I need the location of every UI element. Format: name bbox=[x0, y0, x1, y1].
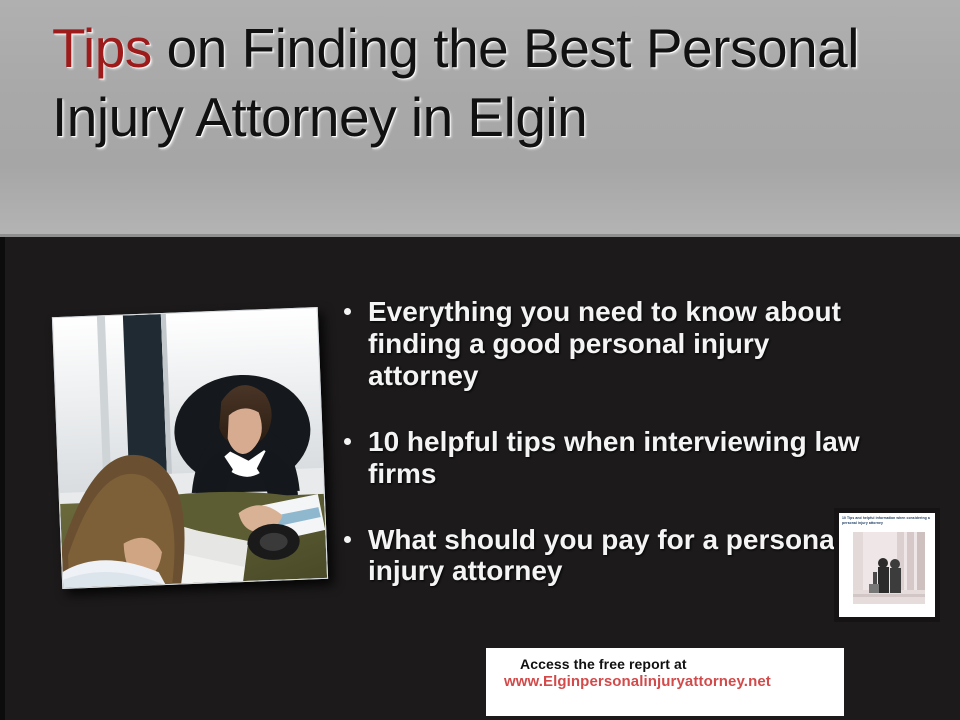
slide-header: Tips on Finding the Best Personal Injury… bbox=[0, 0, 960, 237]
thumbnail-photo bbox=[853, 532, 925, 604]
attorney-consultation-photo bbox=[52, 307, 328, 589]
bullet-dot-icon bbox=[344, 308, 351, 315]
courthouse-columns-illustration bbox=[853, 532, 925, 604]
list-item: 10 helpful tips when interviewing law fi… bbox=[340, 426, 870, 490]
presentation-slide: Tips on Finding the Best Personal Injury… bbox=[0, 0, 960, 720]
bullet-text: 10 helpful tips when interviewing law fi… bbox=[368, 426, 860, 489]
list-item: What should you pay for a personal injur… bbox=[340, 524, 870, 588]
cta-url-box[interactable]: Access the free report at www.Elginperso… bbox=[486, 648, 844, 716]
bullet-text: Everything you need to know about findin… bbox=[368, 296, 841, 391]
left-edge-strip bbox=[0, 237, 5, 720]
report-cover-thumbnail[interactable]: 10 Tips and helpful information when con… bbox=[834, 508, 940, 622]
thumbnail-card: 10 Tips and helpful information when con… bbox=[839, 513, 935, 617]
page-title: Tips on Finding the Best Personal Injury… bbox=[52, 14, 882, 152]
cta-url[interactable]: www.Elginpersonalinjuryattorney.net bbox=[504, 673, 771, 690]
title-rest: on Finding the Best Personal Injury Atto… bbox=[52, 17, 859, 148]
cta-headline: Access the free report at bbox=[520, 656, 687, 672]
bullet-dot-icon bbox=[344, 536, 351, 543]
bullet-dot-icon bbox=[344, 438, 351, 445]
thumbnail-headline: 10 Tips and helpful information when con… bbox=[842, 516, 932, 526]
list-item: Everything you need to know about findin… bbox=[340, 296, 870, 392]
bullet-text: What should you pay for a personal injur… bbox=[368, 524, 843, 587]
bullet-list: Everything you need to know about findin… bbox=[340, 296, 870, 587]
photo-illustration bbox=[53, 308, 327, 588]
title-highlight: Tips bbox=[52, 17, 152, 79]
